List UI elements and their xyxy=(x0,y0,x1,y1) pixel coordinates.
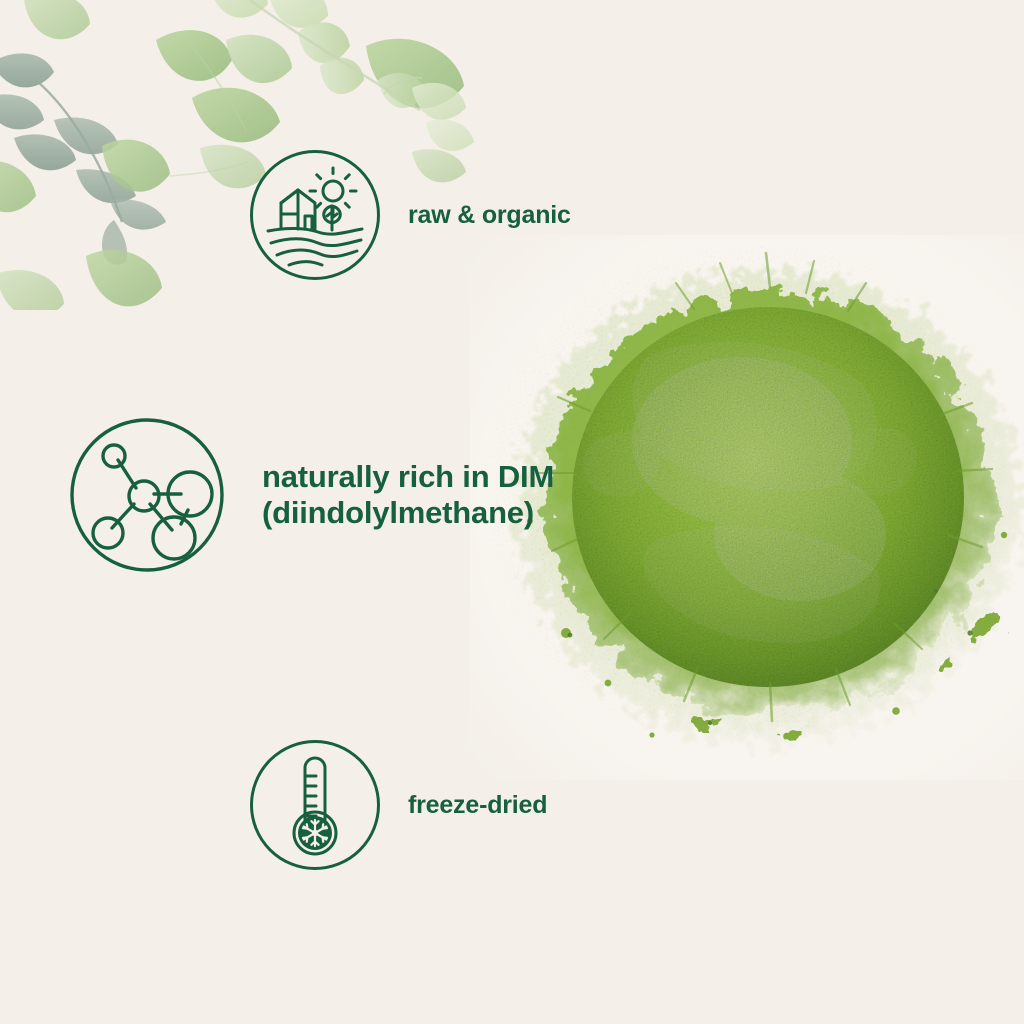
leaf-cluster-green xyxy=(24,0,464,142)
infographic-canvas: raw & organic xyxy=(0,0,1024,1024)
thermometer-snowflake-icon xyxy=(248,738,382,872)
feature-dim: naturally rich in DIM (diindolylmethane) xyxy=(68,416,554,574)
feature-raw-organic: raw & organic xyxy=(248,148,571,282)
eucalyptus-sprig xyxy=(208,0,474,151)
molecule-icon xyxy=(68,416,226,574)
farm-sun-leaf-icon xyxy=(248,148,382,282)
feature-raw-organic-label: raw & organic xyxy=(408,201,571,230)
feature-freeze-dried: freeze-dried xyxy=(248,738,547,872)
feature-freeze-dried-label: freeze-dried xyxy=(408,791,547,820)
leaf-sprig-sage xyxy=(0,53,166,264)
feature-dim-label: naturally rich in DIM (diindolylmethane) xyxy=(262,459,554,531)
